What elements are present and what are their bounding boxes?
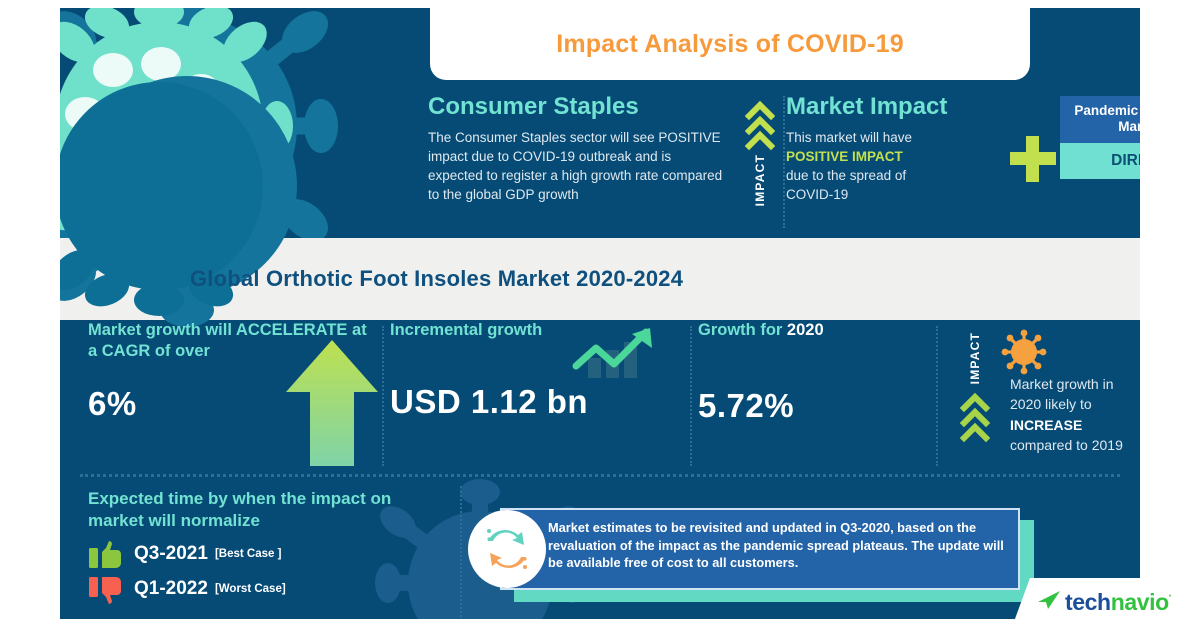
consumer-staples-body: The Consumer Staples sector will see POS… bbox=[428, 128, 728, 205]
right-impact-bold: INCREASE bbox=[1010, 417, 1082, 433]
pandemic-impact-box: Pandemic Impact on Market DIRECT bbox=[1060, 96, 1140, 179]
thumbs-up-icon bbox=[88, 541, 128, 567]
technavio-arrow-icon bbox=[1036, 589, 1062, 616]
metric-cagr: Market growth will ACCELERATE at a CAGR … bbox=[88, 320, 378, 468]
right-impact-line1: Market growth in bbox=[1010, 376, 1113, 392]
market-impact-line1: This market will have bbox=[786, 130, 912, 145]
vertical-divider-bottom bbox=[460, 486, 462, 619]
metric-growth-value: 5.72% bbox=[698, 387, 938, 425]
metric-incremental-growth: Incremental growth USD 1.12 bn bbox=[390, 320, 690, 468]
market-impact-line3: COVID-19 bbox=[786, 187, 848, 202]
page-title: Impact Analysis of COVID-19 bbox=[556, 30, 904, 59]
impact-indicator-top: IMPACT bbox=[740, 100, 780, 230]
consumer-staples-block: Consumer Staples The Consumer Staples se… bbox=[428, 93, 728, 204]
normalize-block: Expected time by when the impact on mark… bbox=[88, 488, 438, 602]
metric-divider-1 bbox=[382, 326, 384, 466]
technavio-wordmark: technavio˚ bbox=[1065, 589, 1171, 616]
normalize-case-worst: [Worst Case] bbox=[215, 583, 286, 595]
normalize-row-best: Q3-2021 [Best Case ] bbox=[88, 541, 438, 567]
consumer-staples-heading: Consumer Staples bbox=[428, 93, 728, 121]
refresh-cycle-icon bbox=[468, 510, 546, 588]
market-impact-body: This market will have POSITIVE IMPACT du… bbox=[786, 128, 986, 205]
pandemic-impact-value: DIRECT bbox=[1060, 143, 1140, 179]
impact-label-right: IMPACT bbox=[968, 332, 982, 384]
normalize-case-best: [Best Case ] bbox=[215, 548, 281, 560]
metric-divider-2 bbox=[690, 326, 692, 466]
up-arrow-icon bbox=[284, 338, 380, 466]
impact-label-top: IMPACT bbox=[753, 154, 767, 206]
normalize-heading: Expected time by when the impact on mark… bbox=[88, 488, 438, 532]
infographic-root: Impact Analysis of COVID-19 Consumer Sta… bbox=[0, 0, 1200, 627]
impact-indicator-right: IMPACT bbox=[955, 326, 995, 466]
market-impact-block: Market Impact This market will have POSI… bbox=[786, 93, 986, 204]
header-title-card: Impact Analysis of COVID-19 bbox=[430, 8, 1030, 80]
chevron-up-stack-icon-right bbox=[960, 392, 990, 449]
technavio-logo[interactable]: technavio˚ bbox=[1030, 578, 1200, 627]
right-impact-text: Market growth in 2020 likely to INCREASE… bbox=[1010, 374, 1140, 455]
plus-icon bbox=[1010, 136, 1056, 182]
normalize-quarter-worst: Q1-2022 bbox=[134, 578, 208, 600]
callout-box: Market estimates to be revisited and upd… bbox=[500, 508, 1020, 590]
metric-divider-3 bbox=[936, 326, 938, 466]
normalize-row-worst: Q1-2022 [Worst Case] bbox=[88, 576, 438, 602]
right-impact-line3: compared to 2019 bbox=[1010, 437, 1123, 453]
metric-growth-label-teal: Growth for bbox=[698, 321, 782, 339]
horizontal-divider bbox=[80, 474, 1120, 477]
pandemic-impact-heading: Pandemic Impact on Market bbox=[1060, 96, 1140, 143]
metric-growth-2020: Growth for 2020 5.72% bbox=[698, 320, 938, 468]
callout-panel: Market estimates to be revisited and upd… bbox=[500, 508, 1020, 590]
right-impact-line2: 2020 likely to bbox=[1010, 396, 1092, 412]
normalize-quarter-best: Q3-2021 bbox=[134, 543, 208, 565]
market-impact-heading: Market Impact bbox=[786, 93, 986, 121]
growth-chart-icon bbox=[570, 326, 666, 384]
metric-incremental-value: USD 1.12 bn bbox=[390, 383, 690, 421]
vertical-divider-top bbox=[783, 96, 785, 228]
wordmark-navio: navio bbox=[1111, 589, 1169, 615]
orange-virus-icon bbox=[1000, 328, 1048, 376]
chevron-up-stack-icon bbox=[745, 100, 775, 152]
metric-growth-label-year: 2020 bbox=[787, 321, 824, 339]
market-impact-line2: due to the spread of bbox=[786, 168, 906, 183]
report-title-strip: Global Orthotic Foot Insoles Market 2020… bbox=[60, 238, 1140, 320]
callout-text: Market estimates to be revisited and upd… bbox=[502, 510, 1018, 572]
market-impact-highlight: POSITIVE IMPACT bbox=[786, 149, 903, 164]
poster-canvas: Impact Analysis of COVID-19 Consumer Sta… bbox=[60, 8, 1140, 619]
thumbs-down-icon bbox=[88, 576, 128, 602]
metric-growth-label: Growth for 2020 bbox=[698, 320, 938, 341]
trademark-mark: ˚ bbox=[1169, 593, 1172, 603]
wordmark-tech: tech bbox=[1065, 589, 1111, 615]
report-title: Global Orthotic Foot Insoles Market 2020… bbox=[190, 266, 683, 292]
